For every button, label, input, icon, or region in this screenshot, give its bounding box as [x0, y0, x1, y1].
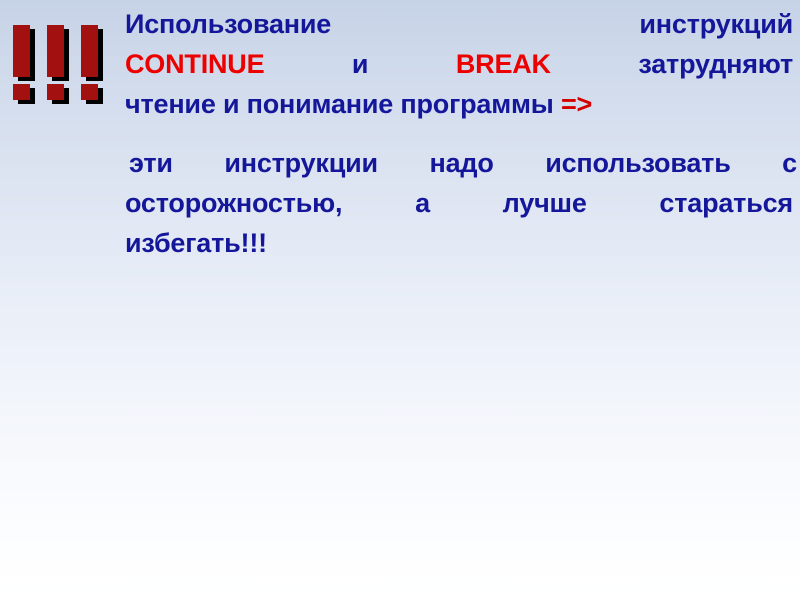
text-staratsya: стараться: [659, 183, 793, 223]
paragraph-two: эти инструкции надо использовать с остор…: [125, 143, 793, 263]
exclamation-bar: [13, 25, 30, 77]
exclamation-dot: [47, 84, 64, 100]
slide-canvas: Использование инструкций CONTINUE и BREA…: [0, 0, 800, 600]
paragraph-two-line-1: эти инструкции надо использовать с: [125, 143, 797, 183]
text-ispolzovat: использовать: [545, 143, 730, 183]
keyword-break: BREAK: [456, 44, 551, 84]
text-eti: эти: [129, 143, 173, 183]
paragraph-one-line-1: Использование инструкций: [125, 4, 793, 44]
exclamation-bar: [81, 25, 98, 77]
text-nado: надо: [429, 143, 493, 183]
triple-exclamation-icon: [10, 24, 110, 108]
text-i: и: [352, 44, 368, 84]
exclamation-dot: [13, 84, 30, 100]
paragraph-one-line-3: чтение и понимание программы =>: [125, 84, 793, 124]
arrow-glyph: =>: [561, 84, 592, 124]
exclamation-bar: [47, 25, 64, 77]
paragraph-two-line-3: избегать!!!: [125, 223, 793, 263]
text-instrukcij: инструкций: [639, 4, 793, 44]
exclamation-icon-2: [46, 24, 72, 108]
spacer: [554, 84, 561, 124]
text-chtenie-i-ponimanie: чтение и понимание программы: [125, 84, 554, 124]
text-s: с: [782, 143, 797, 183]
exclamation-icon-1: [12, 24, 38, 108]
text-zatrudnyayut: затрудняют: [638, 44, 793, 84]
text-ostorozhnostyu: осторожностью,: [125, 183, 342, 223]
text-luchshe: лучше: [503, 183, 587, 223]
text-a: а: [415, 183, 430, 223]
paragraph-one: Использование инструкций CONTINUE и BREA…: [125, 4, 793, 124]
text-ispolzovanie: Использование: [125, 4, 331, 44]
text-izbegat: избегать!!!: [125, 223, 267, 263]
text-instrukcii: инструкции: [224, 143, 378, 183]
paragraph-one-line-2: CONTINUE и BREAK затрудняют: [125, 44, 793, 84]
exclamation-dot: [81, 84, 98, 100]
slide-text-body: Использование инструкций CONTINUE и BREA…: [125, 4, 793, 263]
paragraph-two-line-2: осторожностью, а лучше стараться: [125, 183, 793, 223]
exclamation-icon-3: [80, 24, 106, 108]
keyword-continue: CONTINUE: [125, 44, 264, 84]
